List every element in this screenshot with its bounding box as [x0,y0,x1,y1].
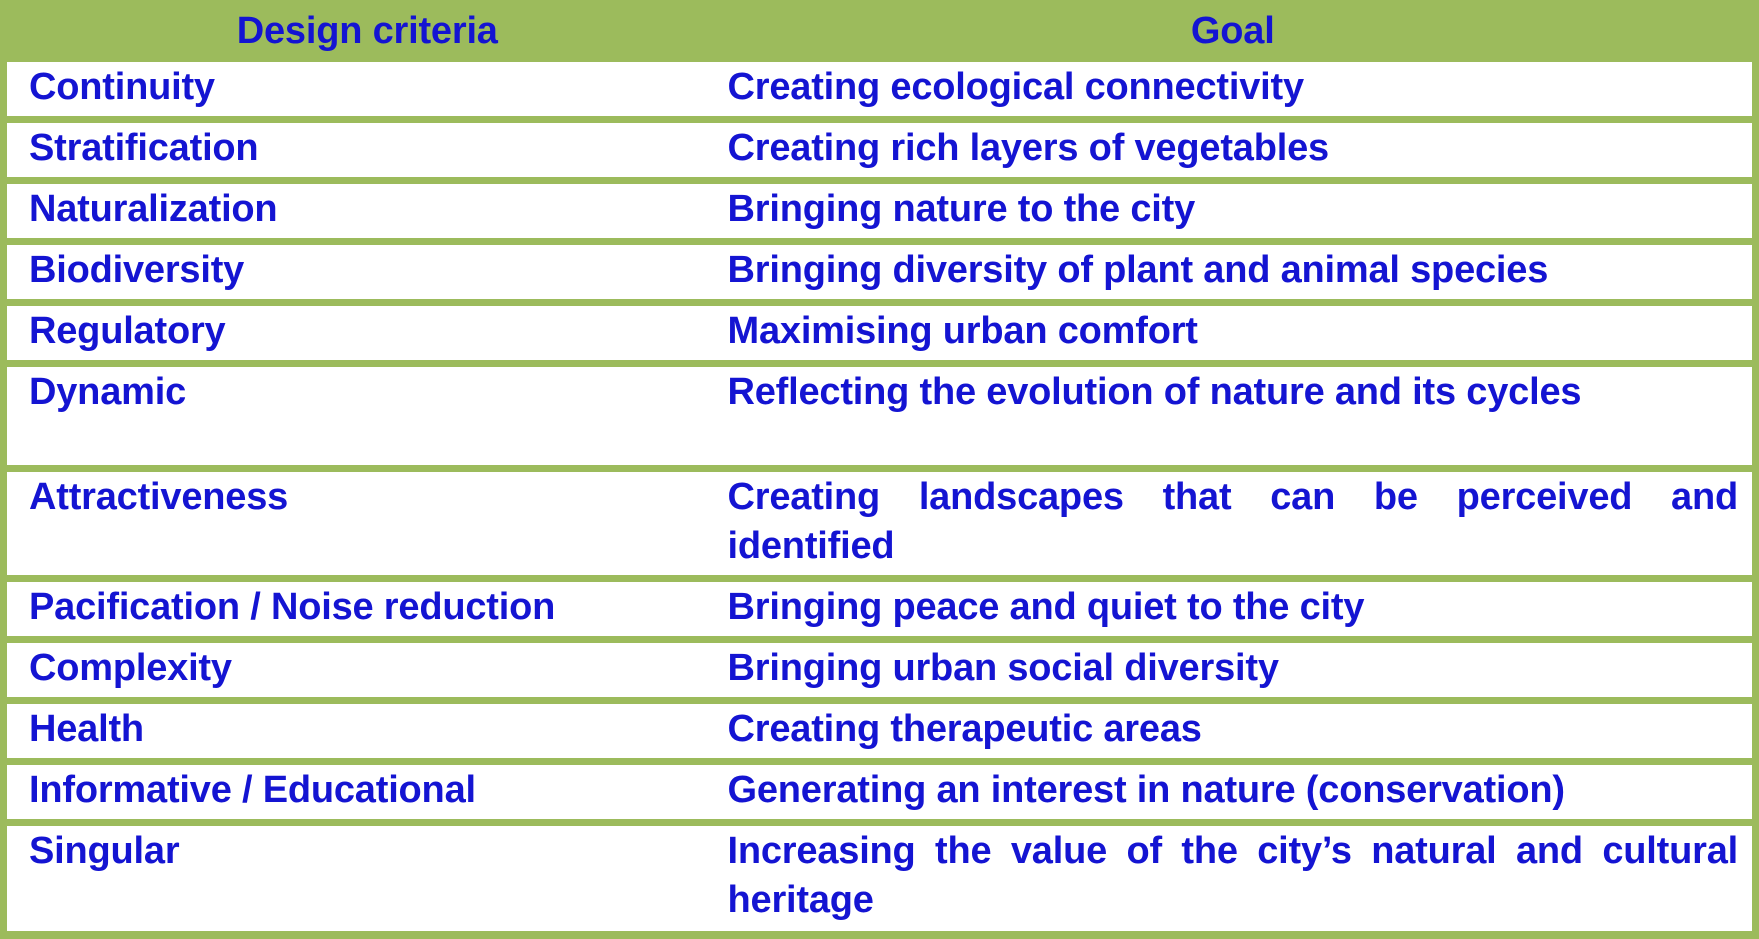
goal-text: Bringing diversity of plant and animal s… [716,245,1753,299]
cell-design-criteria: Stratification [4,120,716,181]
table-row: ContinuityCreating ecological connectivi… [4,61,1756,120]
goal-text: Increasing the value of the city’s natur… [716,826,1753,931]
cell-design-criteria: Health [4,701,716,762]
cell-goal: Bringing peace and quiet to the city [716,579,1756,640]
cell-goal: Creating ecological connectivity [716,61,1756,120]
goal-text: Creating ecological connectivity [716,62,1753,116]
goal-text: Creating landscapes that can be perceive… [716,472,1753,575]
design-criteria-text: Attractiveness [7,472,716,570]
cell-goal: Bringing urban social diversity [716,640,1756,701]
goal-text: Bringing nature to the city [716,184,1753,238]
cell-design-criteria: Regulatory [4,303,716,364]
cell-goal: Bringing nature to the city [716,181,1756,242]
design-criteria-text: Complexity [7,643,716,697]
cell-goal: Creating rich layers of vegetables [716,120,1756,181]
table-body: ContinuityCreating ecological connectivi… [4,61,1756,936]
table-row: RegulatoryMaximising urban comfort [4,303,1756,364]
table-row: ComplexityBringing urban social diversit… [4,640,1756,701]
table-row: Pacification / Noise reductionBringing p… [4,579,1756,640]
cell-goal: Bringing diversity of plant and animal s… [716,242,1756,303]
cell-design-criteria: Complexity [4,640,716,701]
goal-text: Creating rich layers of vegetables [716,123,1753,177]
cell-design-criteria: Singular [4,823,716,936]
cell-design-criteria: Continuity [4,61,716,120]
cell-goal: Maximising urban comfort [716,303,1756,364]
goal-text: Bringing urban social diversity [716,643,1753,697]
table-row: NaturalizationBringing nature to the cit… [4,181,1756,242]
design-criteria-text: Health [7,704,716,758]
cell-design-criteria: Naturalization [4,181,716,242]
table-row: StratificationCreating rich layers of ve… [4,120,1756,181]
goal-text: Creating therapeutic areas [716,704,1753,758]
table-header: Design criteria Goal [4,4,1756,61]
cell-goal: Increasing the value of the city’s natur… [716,823,1756,936]
cell-goal: Generating an interest in nature (conser… [716,762,1756,823]
design-criteria-text: Pacification / Noise reduction [7,582,716,636]
cell-design-criteria: Informative / Educational [4,762,716,823]
column-header-goal-label: Goal [716,7,1753,56]
goal-text: Reflecting the evolution of nature and i… [716,367,1753,465]
design-criteria-table-container: Design criteria Goal ContinuityCreating … [0,0,1759,903]
table-row: SingularIncreasing the value of the city… [4,823,1756,936]
table-row: DynamicReflecting the evolution of natur… [4,364,1756,469]
design-criteria-text: Dynamic [7,367,716,465]
goal-text: Generating an interest in nature (conser… [716,765,1753,819]
cell-goal: Reflecting the evolution of nature and i… [716,364,1756,469]
design-criteria-text: Naturalization [7,184,716,238]
table-row: HealthCreating therapeutic areas [4,701,1756,762]
cell-design-criteria: Dynamic [4,364,716,469]
cell-goal: Creating therapeutic areas [716,701,1756,762]
design-criteria-text: Informative / Educational [7,765,716,819]
cell-design-criteria: Biodiversity [4,242,716,303]
column-header-goal: Goal [716,4,1756,61]
column-header-design-criteria: Design criteria [4,4,716,61]
cell-goal: Creating landscapes that can be perceive… [716,469,1756,579]
design-criteria-text: Biodiversity [7,245,716,299]
design-criteria-table: Design criteria Goal ContinuityCreating … [0,0,1759,939]
table-row: Informative / EducationalGenerating an i… [4,762,1756,823]
table-row: BiodiversityBringing diversity of plant … [4,242,1756,303]
cell-design-criteria: Pacification / Noise reduction [4,579,716,640]
column-header-design-criteria-label: Design criteria [7,7,716,56]
design-criteria-text: Continuity [7,62,716,116]
design-criteria-text: Singular [7,826,716,931]
table-row: AttractivenessCreating landscapes that c… [4,469,1756,579]
goal-text: Bringing peace and quiet to the city [716,582,1753,636]
design-criteria-text: Regulatory [7,306,716,360]
design-criteria-text: Stratification [7,123,716,177]
table-header-row: Design criteria Goal [4,4,1756,61]
goal-text: Maximising urban comfort [716,306,1753,360]
cell-design-criteria: Attractiveness [4,469,716,579]
